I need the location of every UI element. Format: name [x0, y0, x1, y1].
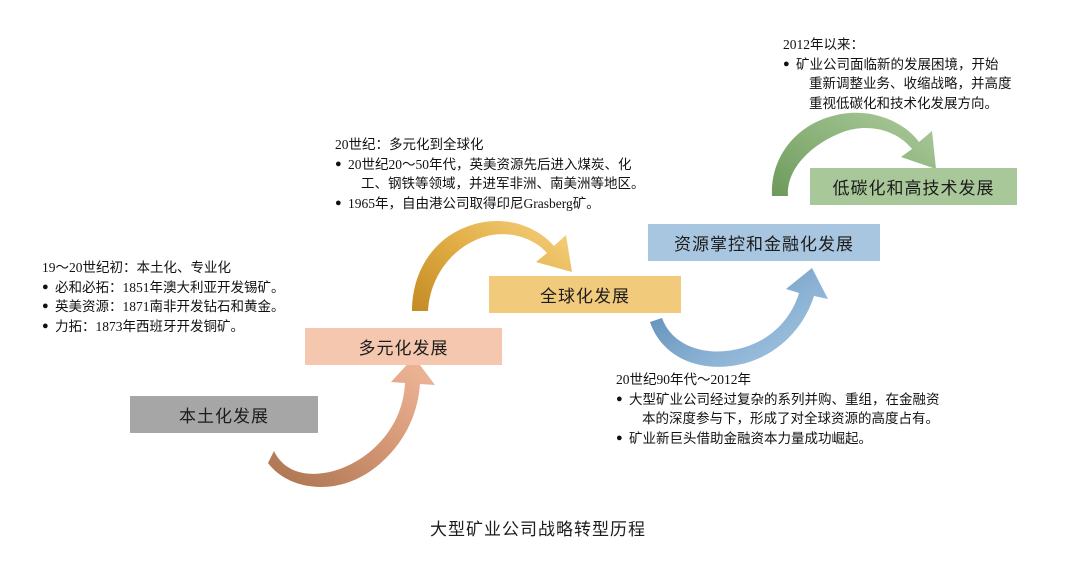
annotation-phase4-title: 2012年以来：	[783, 35, 1012, 55]
annotation-phase3-title: 20世纪90年代～2012年	[616, 370, 940, 390]
box-lowcarbon[interactable]: 低碳化和高技术发展	[810, 168, 1017, 205]
annotation-phase1-bullet-2: 英美资源：1871南非开发钻石和黄金。	[42, 297, 285, 317]
figure-caption-text: 大型矿业公司战略转型历程	[430, 520, 646, 539]
box-diversify[interactable]: 多元化发展	[305, 328, 502, 365]
box-resource[interactable]: 资源掌控和金融化发展	[648, 224, 880, 261]
box-local-label: 本土化发展	[179, 402, 269, 427]
annotation-phase1: 19～20世纪初：本土化、专业化 必和必拓：1851年澳大利亚开发锡矿。 英美资…	[42, 258, 285, 336]
annotation-phase3-bullet-1: 大型矿业公司经过复杂的系列并购、重组，在金融资	[616, 390, 940, 410]
annotation-phase4-bullet-1-cont2: 重新调整业务、收缩战略，并高度	[783, 74, 1012, 94]
annotation-phase1-title: 19～20世纪初：本土化、专业化	[42, 258, 285, 278]
annotation-phase3-bullet-2: 矿业新巨头借助金融资本力量成功崛起。	[616, 429, 940, 449]
annotation-phase2-bullet-1-cont: 工、钢铁等领域，并进军非洲、南美洲等地区。	[335, 174, 645, 194]
box-diversify-label: 多元化发展	[359, 334, 449, 359]
annotation-phase4-bullet-1: 矿业公司面临新的发展困境，开始	[783, 55, 1012, 75]
annotation-phase2-bullet-1: 20世纪20～50年代，英美资源先后进入煤炭、化	[335, 155, 645, 175]
box-local[interactable]: 本土化发展	[130, 396, 318, 433]
box-lowcarbon-label: 低碳化和高技术发展	[833, 174, 995, 199]
box-global[interactable]: 全球化发展	[489, 276, 681, 313]
box-global-label: 全球化发展	[540, 282, 630, 307]
diagram-canvas: 本土化发展 多元化发展 全球化发展 资源掌控和金融化发展 低碳化和高技术发展 1…	[0, 0, 1076, 566]
annotation-phase1-bullet-3: 力拓：1873年西班牙开发铜矿。	[42, 317, 285, 337]
annotation-phase4-bullet-1-cont3: 重视低碳化和技术化发展方向。	[783, 94, 1012, 114]
annotation-phase4: 2012年以来： 矿业公司面临新的发展困境，开始 重新调整业务、收缩战略，并高度…	[783, 35, 1012, 113]
figure-caption: 大型矿业公司战略转型历程	[0, 515, 1076, 540]
box-resource-label: 资源掌控和金融化发展	[674, 230, 854, 255]
annotation-phase3-bullet-1-cont: 本的深度参与下，形成了对全球资源的高度占有。	[616, 409, 940, 429]
annotation-phase2-bullet-2: 1965年，自由港公司取得印尼Grasberg矿。	[335, 194, 645, 214]
annotation-phase2: 20世纪：多元化到全球化 20世纪20～50年代，英美资源先后进入煤炭、化 工、…	[335, 135, 645, 213]
annotation-phase1-bullet-1: 必和必拓：1851年澳大利亚开发锡矿。	[42, 278, 285, 298]
annotation-phase2-title: 20世纪：多元化到全球化	[335, 135, 645, 155]
annotation-phase3: 20世纪90年代～2012年 大型矿业公司经过复杂的系列并购、重组，在金融资 本…	[616, 370, 940, 448]
